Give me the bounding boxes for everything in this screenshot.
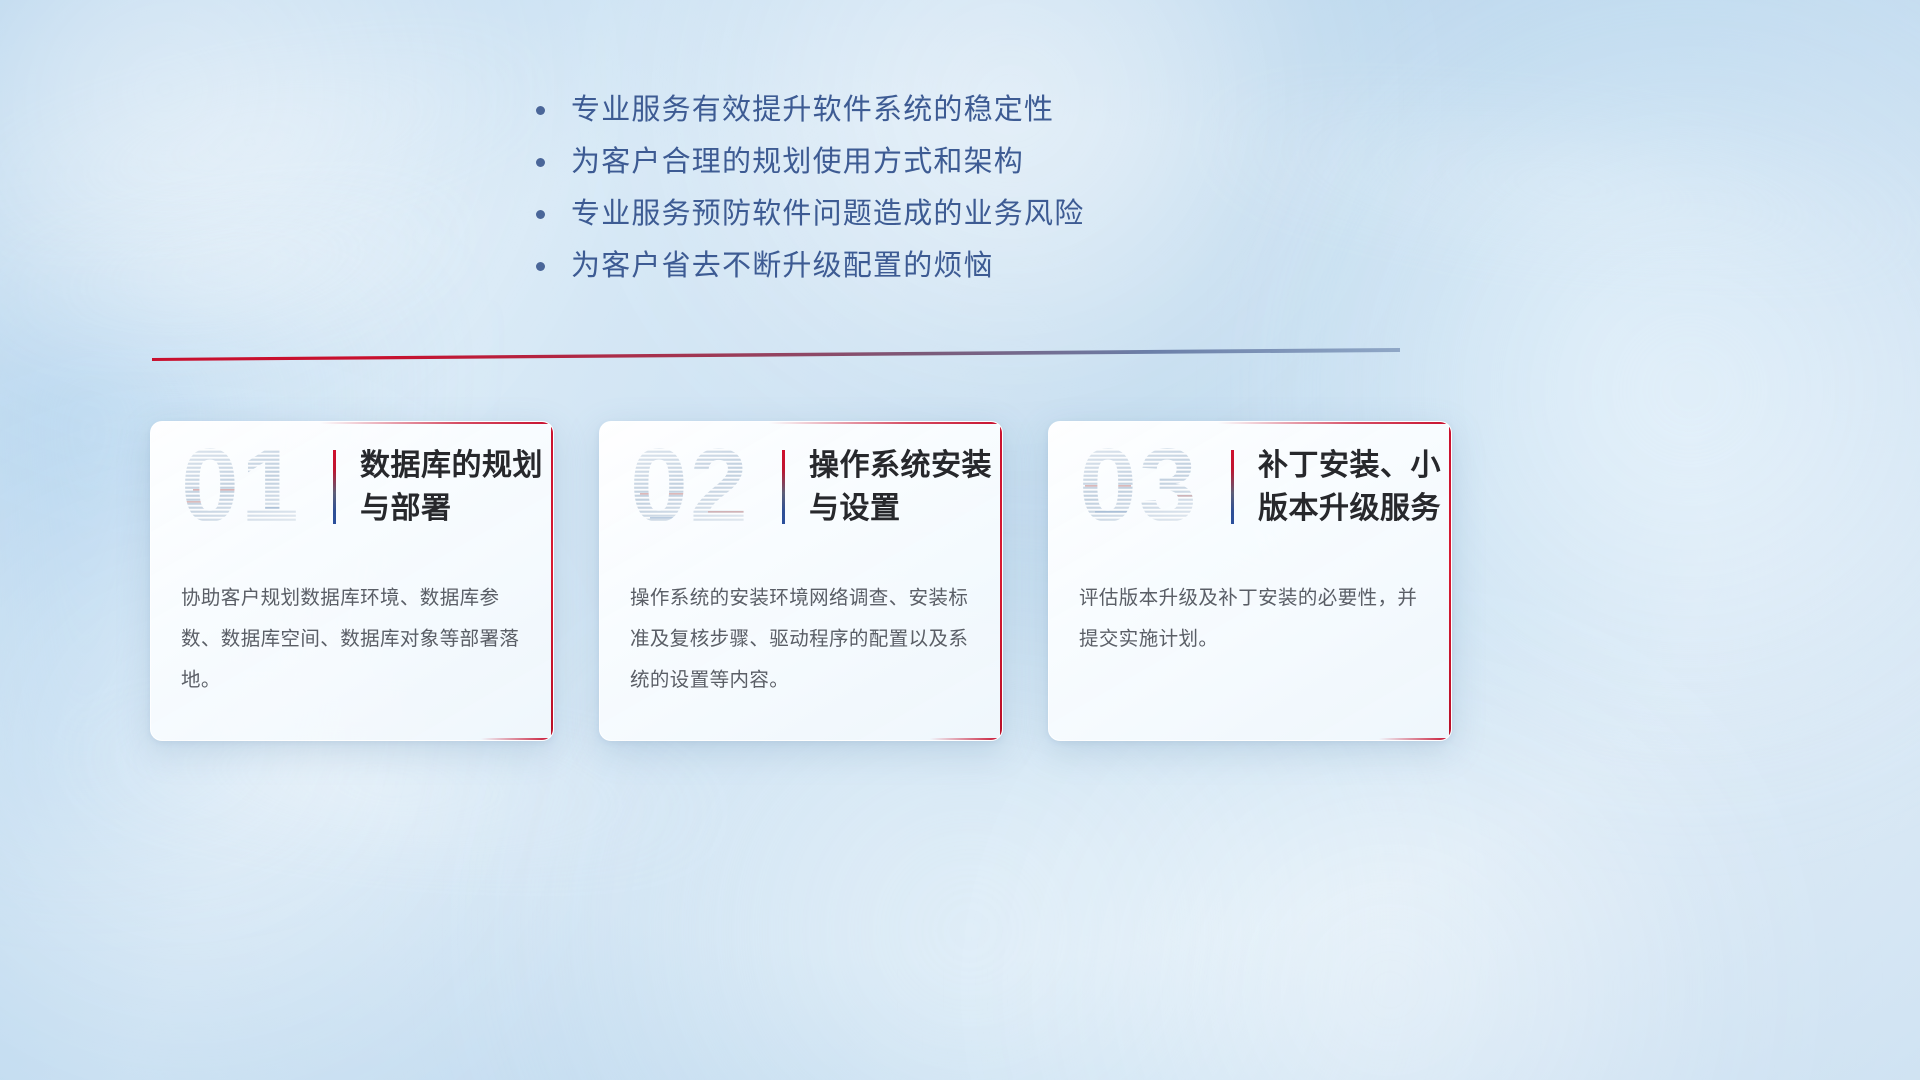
list-item: 为客户合理的规划使用方式和架构 — [536, 140, 1296, 192]
list-item: 为客户省去不断升级配置的烦恼 — [536, 244, 1296, 296]
list-item: 专业服务预防软件问题造成的业务风险 — [536, 192, 1296, 244]
card-title-line-1: 补丁安装、小 — [1258, 444, 1441, 487]
bullet-dot-icon — [536, 262, 545, 271]
card-title-line-2: 版本升级服务 — [1258, 487, 1441, 530]
card-number-01-glyph: 01 — [177, 437, 329, 537]
bullet-text: 为客户合理的规划使用方式和架构 — [571, 140, 1024, 184]
card-title-line-2: 与设置 — [809, 487, 992, 530]
bullet-dot-icon — [536, 158, 545, 167]
card-02[interactable]: 02 操作系统安装 与设置 操作系统的安装环境网络调查 — [599, 421, 1003, 741]
bullet-text: 专业服务有效提升软件系统的稳定性 — [571, 88, 1054, 132]
list-item: 专业服务有效提升软件系统的稳定性 — [536, 88, 1296, 140]
card-body-text: 评估版本升级及补丁安装的必要性，并提交实施计划。 — [1049, 552, 1451, 660]
card-bottom-accent — [481, 738, 553, 740]
card-header: 01 数据库的规划 与部署 — [151, 422, 553, 552]
card-bottom-accent — [930, 738, 1002, 740]
card-body-text: 协助客户规划数据库环境、数据库参数、数据库空间、数据库对象等部署落地。 — [151, 552, 553, 701]
card-bottom-accent — [1379, 738, 1451, 740]
card-header: 03 补丁安装、小 版本升级服务 — [1049, 422, 1451, 552]
card-title-line-2: 与部署 — [360, 487, 543, 530]
bullet-text: 为客户省去不断升级配置的烦恼 — [571, 244, 994, 288]
bullet-list: 专业服务有效提升软件系统的稳定性 为客户合理的规划使用方式和架构 专业服务预防软… — [536, 88, 1296, 296]
card-body-text: 操作系统的安装环境网络调查、安装标准及复核步骤、驱动程序的配置以及系统的设置等内… — [600, 552, 1002, 701]
card-title-line-1: 操作系统安装 — [809, 444, 992, 487]
card-01[interactable]: 01 数据库的规划 与部署 协助客户规划数据库环境、数 — [150, 421, 554, 741]
card-divider-bar — [1231, 450, 1234, 524]
card-divider-bar — [782, 450, 785, 524]
section-divider — [152, 348, 1400, 362]
card-title: 操作系统安装 与设置 — [809, 444, 992, 530]
card-title: 补丁安装、小 版本升级服务 — [1258, 444, 1441, 530]
card-divider-bar — [333, 450, 336, 524]
card-header: 02 操作系统安装 与设置 — [600, 422, 1002, 552]
divider-wedge-icon — [152, 348, 1400, 362]
card-title: 数据库的规划 与部署 — [360, 444, 543, 530]
card-title-line-1: 数据库的规划 — [360, 444, 543, 487]
card-list: 01 数据库的规划 与部署 协助客户规划数据库环境、数 — [150, 421, 1452, 741]
card-number-02-glyph: 02 — [626, 437, 778, 537]
card-03[interactable]: 03 补丁安装、小 版本升级服务 评估版本升级及补丁安 — [1048, 421, 1452, 741]
bullet-dot-icon — [536, 106, 545, 115]
bullet-text: 专业服务预防软件问题造成的业务风险 — [571, 192, 1084, 236]
bullet-dot-icon — [536, 210, 545, 219]
card-number-03-glyph: 03 — [1075, 437, 1227, 537]
